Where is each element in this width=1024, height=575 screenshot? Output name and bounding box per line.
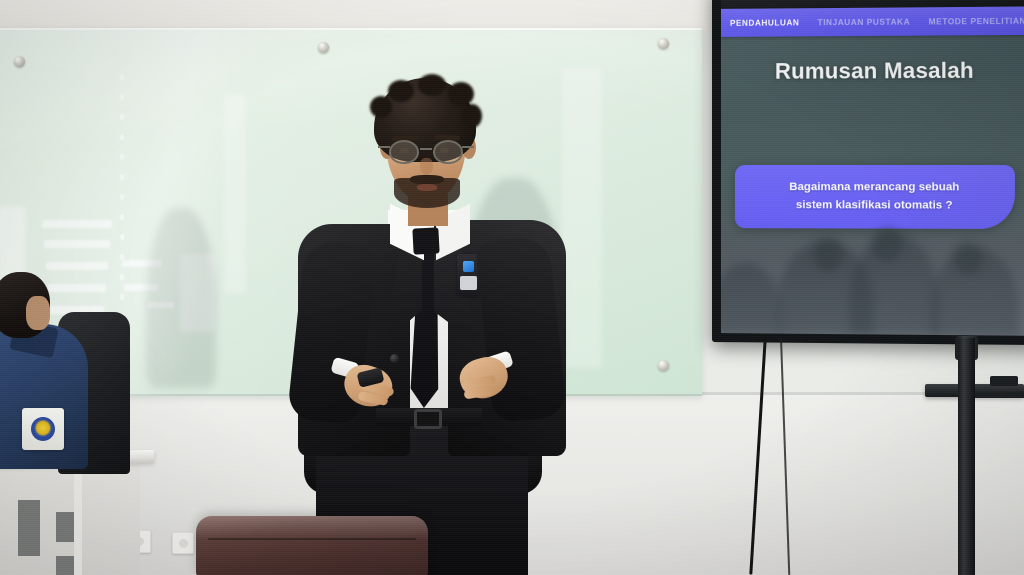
moustache xyxy=(410,175,444,184)
nose xyxy=(420,158,433,175)
hair-curl xyxy=(448,82,474,106)
badge-strip xyxy=(460,276,477,290)
desk-cavity xyxy=(56,512,76,542)
whiteboard-mount-stud xyxy=(658,38,669,49)
foreground-leather-chair xyxy=(196,516,428,575)
whiteboard-mount-stud xyxy=(14,56,25,67)
hair-curl xyxy=(388,80,414,102)
mouth xyxy=(417,184,437,191)
eyeglass-lens-right xyxy=(433,140,463,164)
chair-highlight xyxy=(196,516,428,540)
stand-pole xyxy=(958,338,975,575)
desk-cavity xyxy=(18,500,40,556)
whiteboard-mount-stud xyxy=(318,42,329,53)
desk-leg xyxy=(74,462,82,575)
emblem-logo-icon xyxy=(31,417,55,441)
whiteboard-reflection xyxy=(146,208,216,388)
eyeglass-bridge xyxy=(420,148,432,150)
hair-curl xyxy=(418,74,446,96)
whiteboard-reflection xyxy=(46,262,108,270)
presenter-standing xyxy=(270,78,570,575)
chair-seam xyxy=(208,538,416,540)
belt-buckle xyxy=(414,409,442,429)
whiteboard-reflection xyxy=(42,220,112,228)
hair-curl xyxy=(462,104,482,128)
desk-cavity xyxy=(56,556,76,575)
attendee-emblem-patch xyxy=(22,408,64,450)
presentation-display: PENDAHULUAN TINJAUAN PUSTAKA METODE PENE… xyxy=(712,0,1024,345)
whiteboard-reflection xyxy=(44,240,110,248)
stand-arm xyxy=(968,392,1024,398)
eyeglass-lens-left xyxy=(389,140,419,164)
eyeglass-arm-left xyxy=(378,146,390,148)
whiteboard-mount-stud xyxy=(658,360,669,371)
presentation-photo-scene: PENDAHULUAN TINJAUAN PUSTAKA METODE PENE… xyxy=(0,0,1024,575)
hair-curl xyxy=(370,96,392,118)
whiteboard-reflection xyxy=(120,74,124,314)
necktie-knot xyxy=(412,227,439,254)
whiteboard-top-edge xyxy=(0,28,702,30)
attendee-face xyxy=(26,296,50,330)
jacket-button xyxy=(390,354,399,363)
eyeglass-arm-right xyxy=(462,146,474,148)
seated-attendee xyxy=(0,272,102,467)
whiteboard-reflection xyxy=(224,94,246,294)
badge-logo-icon xyxy=(463,261,474,272)
display-bezel xyxy=(712,0,1024,345)
wall-outlet[interactable] xyxy=(172,532,194,554)
shelf-device xyxy=(990,376,1018,386)
